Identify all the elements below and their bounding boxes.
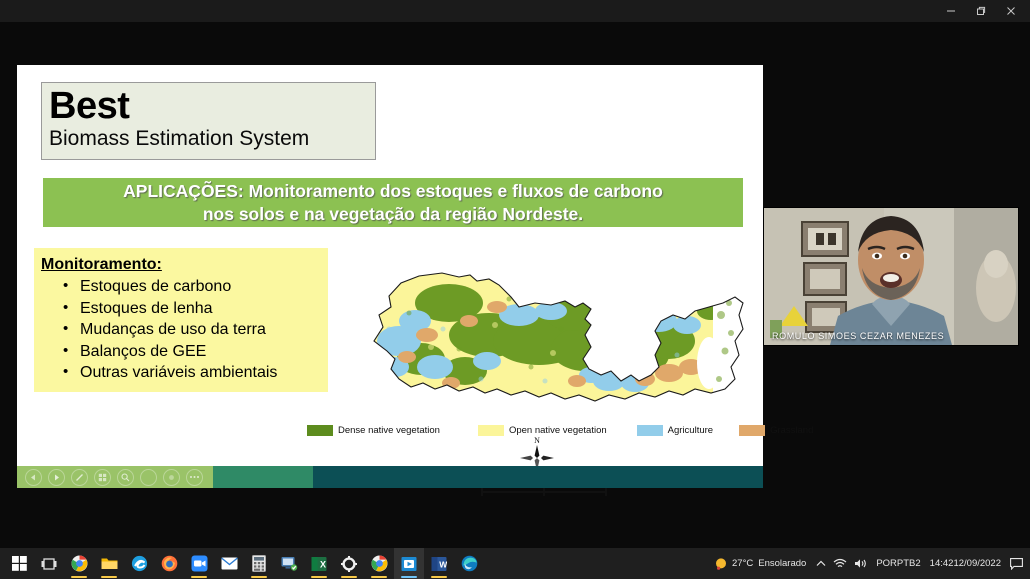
scalebar-tick <box>481 487 483 496</box>
legend-swatch <box>637 425 663 436</box>
list-item: Estoques de lenha <box>63 298 328 320</box>
action-center-icon[interactable] <box>1010 558 1023 570</box>
calculator-icon[interactable] <box>244 548 274 579</box>
close-icon[interactable] <box>996 0 1026 22</box>
blank-screen-icon[interactable] <box>140 469 157 486</box>
strip-segment-green <box>213 466 313 488</box>
legend-item-dense-native-vegetation: Dense native vegetation <box>307 425 440 436</box>
scalebar-tick <box>543 487 545 496</box>
banner-line-1: APLICAÇÕES: Monitoramento dos estoques e… <box>123 181 663 201</box>
legend-label: Grassland <box>770 425 813 436</box>
weather-temperature: 27°C <box>732 558 753 569</box>
list-item: Mudanças de uso da terra <box>63 319 328 341</box>
restore-icon[interactable] <box>966 0 996 22</box>
taskbar-indicator <box>311 576 327 578</box>
applications-banner-text: APLICAÇÕES: Monitoramento dos estoques e… <box>123 180 663 226</box>
slide-title-sub: Biomass Estimation System <box>49 126 375 151</box>
taskbar-indicator <box>251 576 267 578</box>
language-top: POR <box>876 558 897 569</box>
clock-date: 12/09/2022 <box>953 558 1001 569</box>
settings-gear-icon[interactable] <box>334 548 364 579</box>
taskbar-indicator <box>71 576 87 578</box>
language-bottom: PTB2 <box>897 558 921 569</box>
mail-icon[interactable] <box>214 548 244 579</box>
internet-explorer-icon[interactable] <box>124 548 154 579</box>
svg-text:W: W <box>439 559 447 569</box>
slide-title-box: Best Biomass Estimation System <box>41 82 376 160</box>
task-view-icon[interactable] <box>34 548 64 579</box>
list-item: Estoques de carbono <box>63 276 328 298</box>
monitoring-heading: Monitoramento: <box>41 254 328 275</box>
presentation-control-strip[interactable] <box>17 466 763 488</box>
more-options-icon[interactable] <box>186 469 203 486</box>
window-titlebar <box>0 0 1030 22</box>
applications-banner: APLICAÇÕES: Monitoramento dos estoques e… <box>43 178 743 227</box>
clock[interactable]: 14:42 12/09/2022 <box>930 558 1001 569</box>
map-legend: Dense native vegetation Open native vege… <box>307 423 759 437</box>
sun-icon <box>714 557 728 571</box>
language-indicator[interactable]: POR PTB2 <box>876 558 920 569</box>
presentation-toolbar[interactable] <box>17 466 213 488</box>
legend-swatch <box>478 425 504 436</box>
system-tray: 27°C Ensolarado <box>707 548 1026 579</box>
legend-label: Dense native vegetation <box>338 425 440 436</box>
legend-label: Open native vegetation <box>509 425 607 436</box>
minimize-icon[interactable] <box>936 0 966 22</box>
previous-slide-icon[interactable] <box>25 469 42 486</box>
windows-taskbar[interactable]: X <box>0 548 1030 579</box>
compass-north-label: N <box>512 437 562 445</box>
monitoring-list: Estoques de carbono Estoques de lenha Mu… <box>63 276 328 384</box>
wifi-icon[interactable] <box>833 558 847 569</box>
taskbar-indicator <box>101 576 117 578</box>
remote-desktop-icon[interactable] <box>274 548 304 579</box>
taskbar-indicator <box>371 576 387 578</box>
word-icon[interactable]: W <box>424 548 454 579</box>
pen-icon[interactable] <box>71 469 88 486</box>
window-controls <box>936 0 1026 22</box>
next-slide-icon[interactable] <box>48 469 65 486</box>
list-item: Balanços de GEE <box>63 341 328 363</box>
chrome-secondary-icon[interactable] <box>364 548 394 579</box>
volume-icon[interactable] <box>854 558 867 569</box>
banner-line-2: nos solos e na vegetação da região Norde… <box>203 204 583 224</box>
shared-slide[interactable]: Best Biomass Estimation System APLICAÇÕE… <box>17 65 763 488</box>
stop-share-icon[interactable] <box>163 469 180 486</box>
weather-widget[interactable]: 27°C Ensolarado <box>714 557 806 571</box>
list-item: Outras variáveis ambientais <box>63 362 328 384</box>
file-explorer-icon[interactable] <box>94 548 124 579</box>
meeting-stage: Best Biomass Estimation System APLICAÇÕE… <box>0 22 1030 549</box>
slide-grid-icon[interactable] <box>94 469 111 486</box>
monitoring-box: Monitoramento: Estoques de carbono Estoq… <box>34 248 328 392</box>
powerpoint-icon[interactable] <box>394 548 424 579</box>
participant-video-frame <box>764 208 1018 345</box>
video-tile-participant[interactable]: ROMULO SIMOES CEZAR MENEZES <box>763 207 1019 346</box>
chrome-icon[interactable] <box>64 548 94 579</box>
zoom-app-icon[interactable] <box>184 548 214 579</box>
excel-icon[interactable]: X <box>304 548 334 579</box>
legend-item-grassland: Grassland <box>739 425 813 436</box>
start-windows-icon[interactable] <box>4 548 34 579</box>
scalebar-tick <box>605 487 607 496</box>
screen: Best Biomass Estimation System APLICAÇÕE… <box>0 0 1030 579</box>
legend-item-open-native-vegetation: Open native vegetation <box>478 425 607 436</box>
legend-label: Agriculture <box>668 425 713 436</box>
landcover-map <box>339 263 754 410</box>
weather-description: Ensolarado <box>758 558 806 569</box>
taskbar-indicator <box>341 576 357 578</box>
zoom-icon[interactable] <box>117 469 134 486</box>
firefox-icon[interactable] <box>154 548 184 579</box>
svg-text:X: X <box>320 559 326 569</box>
taskbar-indicator <box>401 576 417 578</box>
edge-icon[interactable] <box>454 548 484 579</box>
participant-name-label: ROMULO SIMOES CEZAR MENEZES <box>772 331 944 341</box>
legend-swatch <box>307 425 333 436</box>
show-hidden-icons-icon[interactable] <box>816 560 826 568</box>
legend-swatch <box>739 425 765 436</box>
legend-item-agriculture: Agriculture <box>637 425 713 436</box>
taskbar-indicator <box>191 576 207 578</box>
strip-segment-teal <box>313 466 763 488</box>
taskbar-icon-group: X <box>4 548 484 579</box>
slide-title-main: Best <box>49 85 375 127</box>
taskbar-indicator <box>431 576 447 578</box>
clock-time: 14:42 <box>930 558 954 569</box>
